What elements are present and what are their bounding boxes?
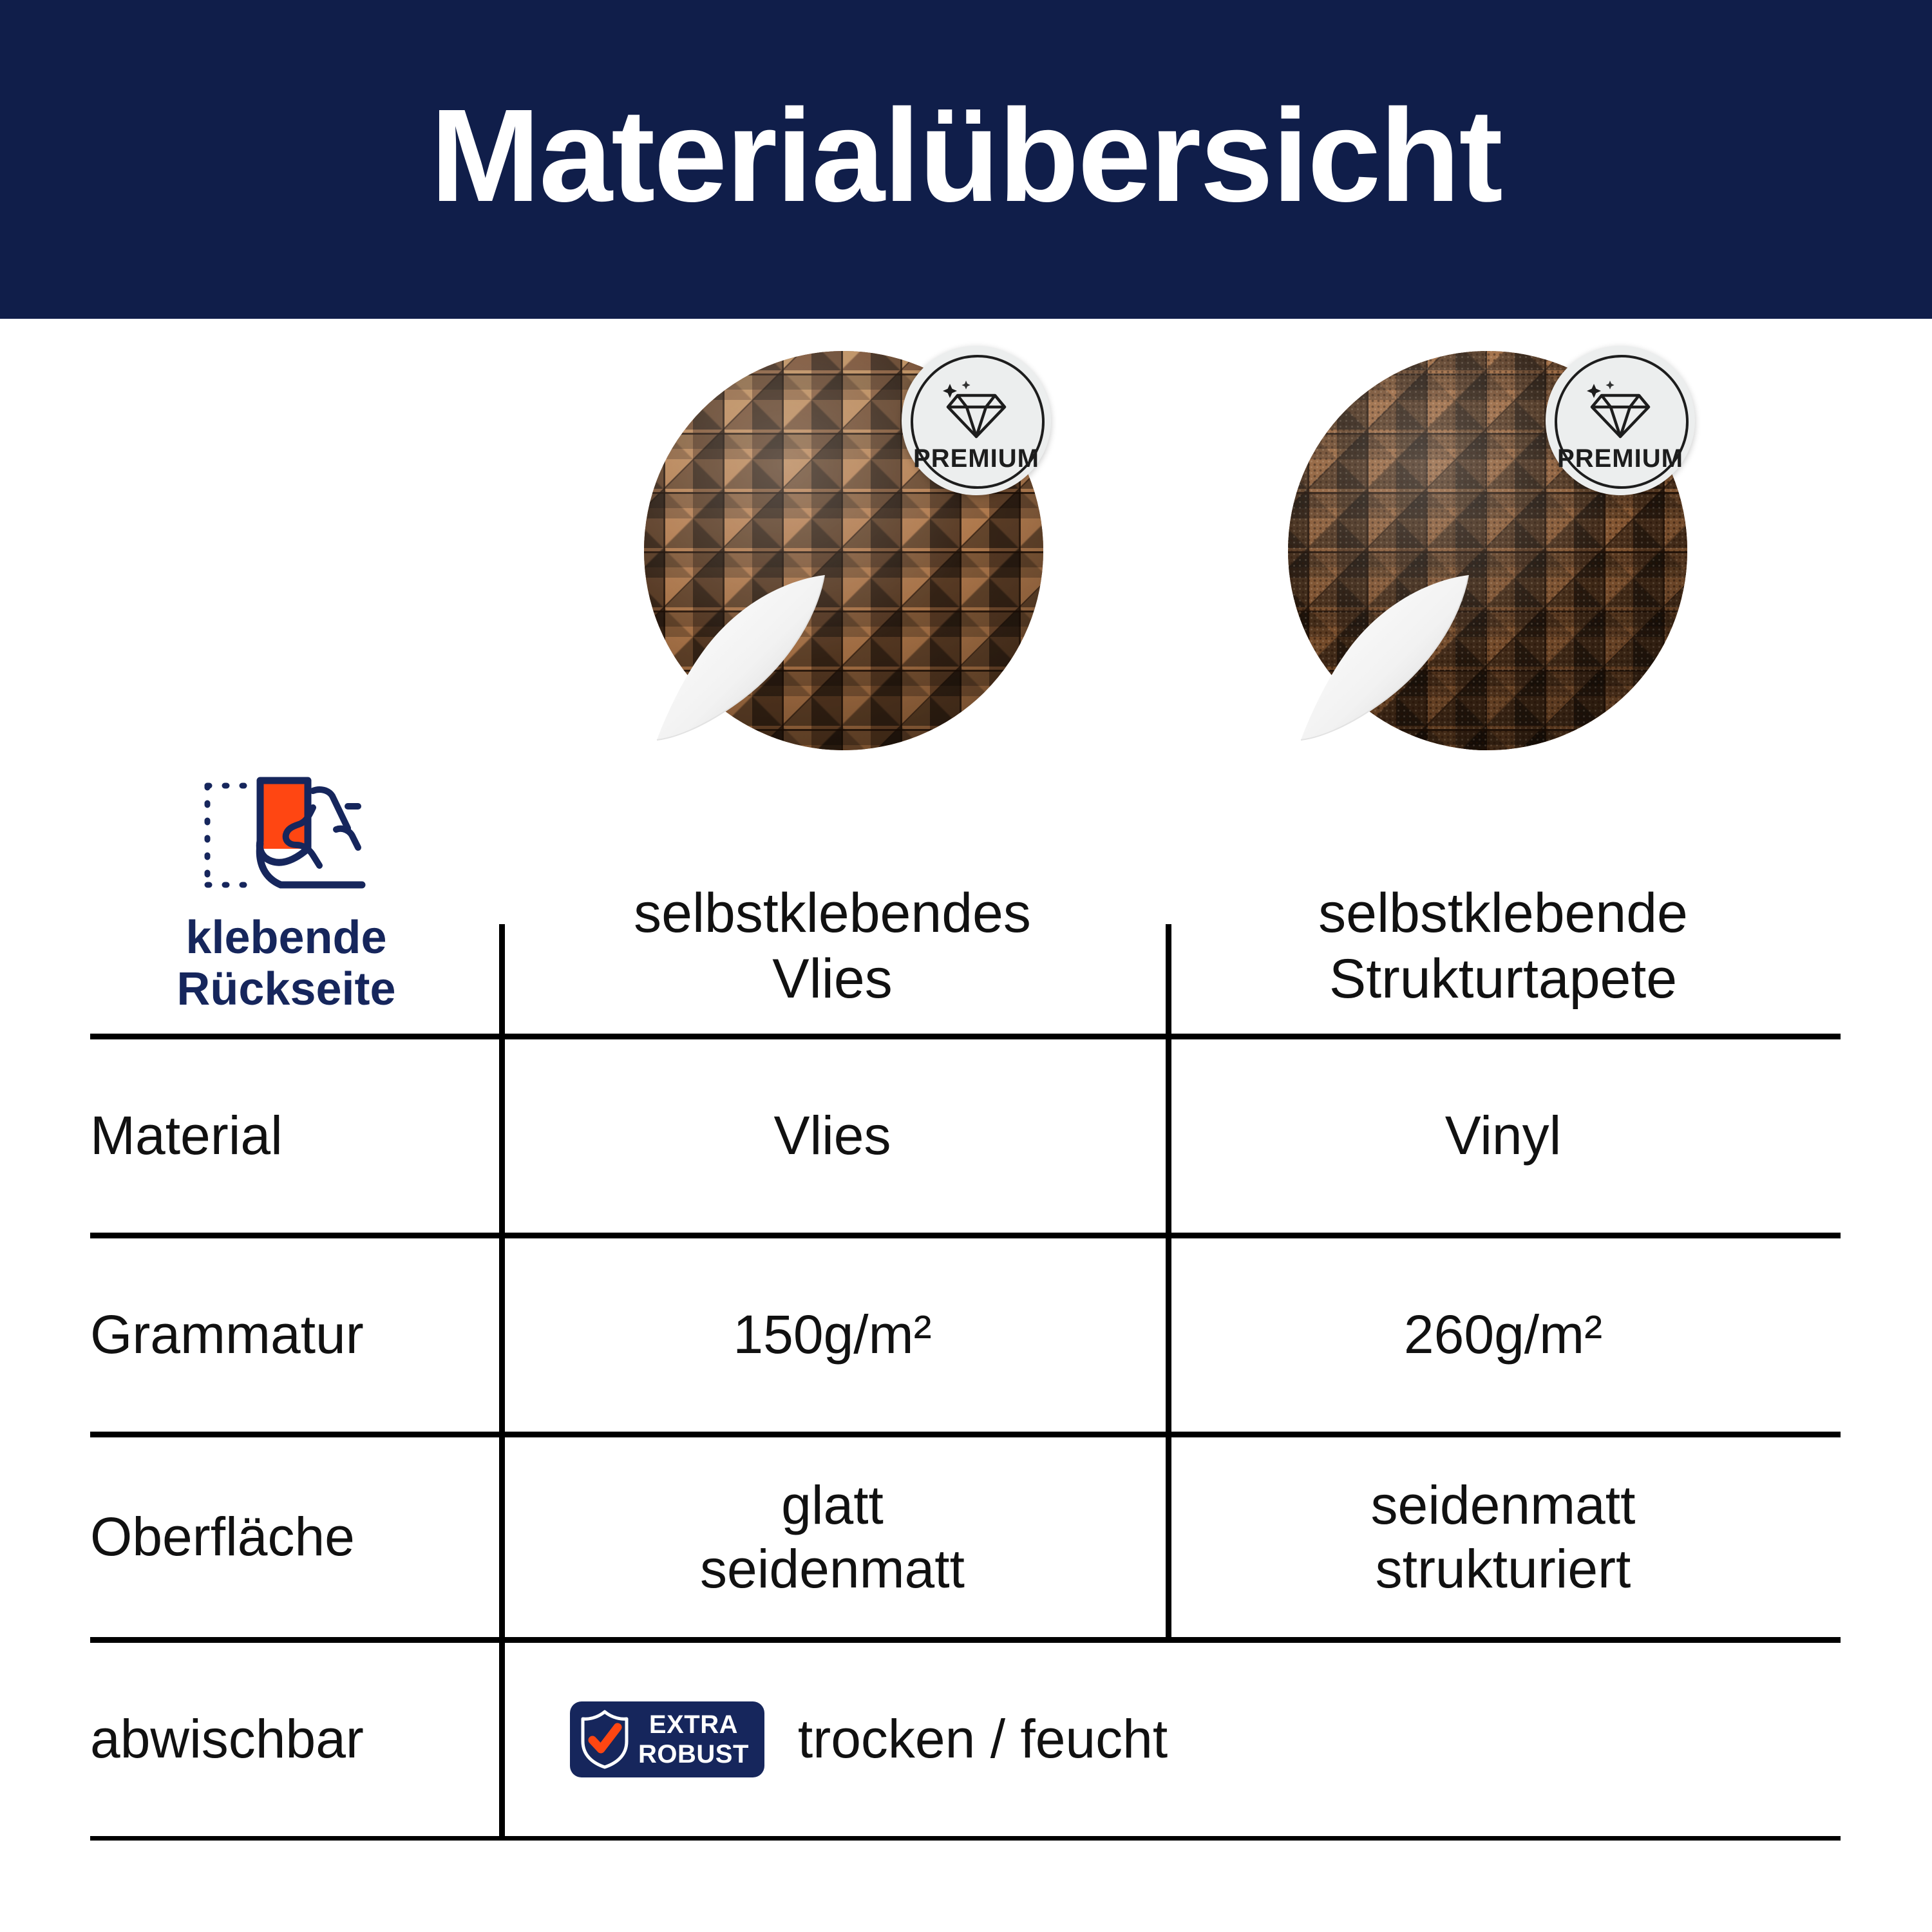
cell-vlies: Vlies <box>499 1039 1166 1233</box>
cell-strukturtapete: Vinyl <box>1166 1039 1841 1233</box>
table-row-abwischbar: abwischbar EXTRA ROBUST trocken / feucht <box>90 1643 1841 1836</box>
table-divider-line <box>90 1432 1841 1437</box>
badge-line2: ROBUST <box>638 1741 749 1767</box>
premium-badge-label: PREMIUM <box>1557 444 1683 473</box>
diamond-icon <box>938 379 1014 440</box>
page-header: Materialübersicht <box>0 0 1932 319</box>
diamond-icon <box>1582 379 1658 440</box>
premium-badge-label: PREMIUM <box>913 444 1039 473</box>
cell-strukturtapete: 260g/m² <box>1166 1238 1841 1432</box>
table-bottom-line <box>90 1836 1841 1841</box>
product-preview-strukturtapete: PREMIUM <box>1288 351 1687 750</box>
material-spec-table: klebende Rückseite selbstklebendes Vlies… <box>90 766 1841 1841</box>
cell-strukturtapete: seidenmatt strukturiert <box>1166 1437 1841 1637</box>
row-label: Material <box>90 1039 499 1233</box>
cell-line1: glatt <box>781 1473 884 1537</box>
column-header-line2: Strukturtapete <box>1329 947 1677 1012</box>
table-divider-line <box>90 1034 1841 1039</box>
column-header-strukturtapete: selbstklebende Strukturtapete <box>1166 881 1841 1034</box>
cell-line2: strukturiert <box>1376 1537 1631 1601</box>
table-row-grammatur: Grammatur 150g/m² 260g/m² <box>90 1238 1841 1432</box>
table-row-material: Material Vlies Vinyl <box>90 1039 1841 1233</box>
table-header-row: klebende Rückseite selbstklebendes Vlies… <box>90 766 1841 1034</box>
row-label: abwischbar <box>90 1643 499 1836</box>
premium-badge: PREMIUM <box>1546 346 1695 495</box>
row-label: Grammatur <box>90 1238 499 1432</box>
page-title: Materialübersicht <box>430 90 1501 222</box>
wipeable-value: trocken / feucht <box>798 1707 1168 1771</box>
column-header-line2: Vlies <box>772 947 892 1012</box>
cell-wipeable: EXTRA ROBUST trocken / feucht <box>499 1643 1841 1836</box>
extra-robust-badge: EXTRA ROBUST <box>570 1701 764 1777</box>
row-label: Oberfläche <box>90 1437 499 1637</box>
cell-line1: seidenmatt <box>1371 1473 1636 1537</box>
badge-line1: EXTRA <box>638 1712 749 1738</box>
cell-vlies: glatt seidenmatt <box>499 1437 1166 1637</box>
column-header-vlies: selbstklebendes Vlies <box>499 881 1166 1034</box>
cell-vlies: 150g/m² <box>499 1238 1166 1432</box>
adhesive-backing-icon <box>193 768 380 903</box>
product-preview-vlies: PREMIUM <box>644 351 1043 750</box>
column-header-line1: selbstklebende <box>1318 881 1688 946</box>
table-divider-line <box>90 1233 1841 1238</box>
premium-badge: PREMIUM <box>902 346 1051 495</box>
cell-line2: seidenmatt <box>700 1537 965 1601</box>
adhesive-backing-label: klebende Rückseite <box>176 912 395 1016</box>
table-divider-line <box>90 1637 1841 1643</box>
adhesive-backing-cell: klebende Rückseite <box>90 768 499 1034</box>
shield-check-icon <box>579 1709 630 1770</box>
column-header-line1: selbstklebendes <box>634 881 1031 946</box>
table-row-oberflaeche: Oberfläche glatt seidenmatt seidenmatt s… <box>90 1437 1841 1637</box>
